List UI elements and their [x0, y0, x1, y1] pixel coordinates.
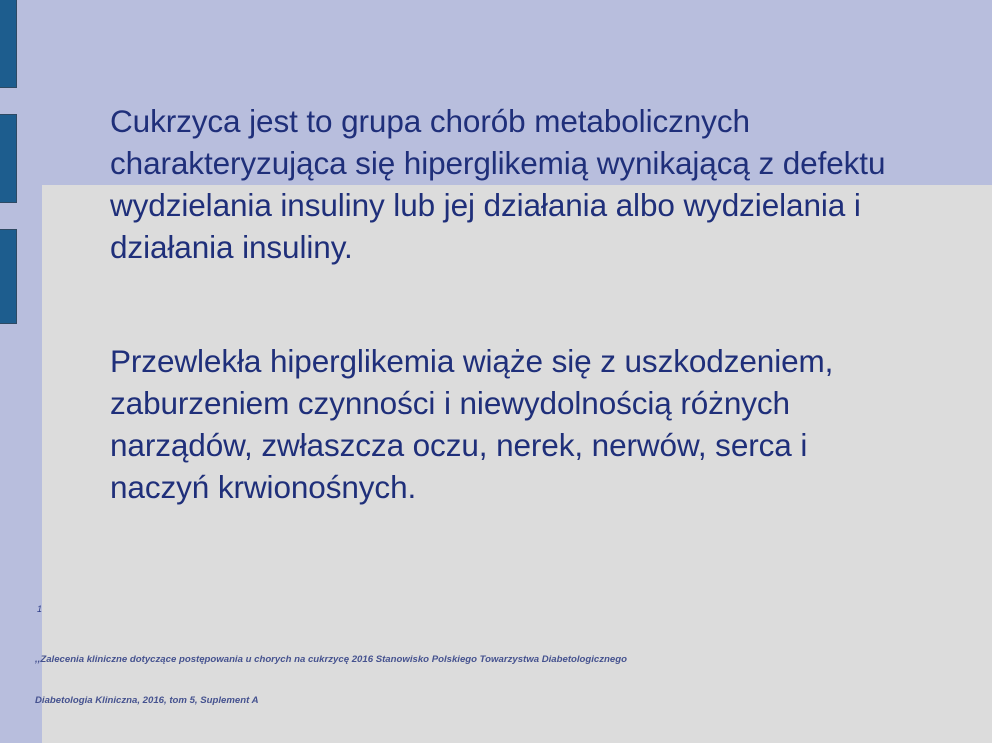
- accent-bar-middle: [0, 114, 17, 203]
- body-paragraph-definition: Cukrzyca jest to grupa chorób metabolicz…: [110, 100, 910, 268]
- slide-body: Cukrzyca jest to grupa chorób metabolicz…: [110, 100, 910, 508]
- footnote-line-citation: Diabetologia Kliniczna, 2016, tom 5, Sup…: [35, 694, 735, 708]
- body-paragraph-complications: Przewlekła hiperglikemia wiąże się z usz…: [110, 340, 910, 508]
- footnote-line-source: ,,Zalecenia kliniczne dotyczące postępow…: [35, 653, 735, 667]
- footnote-index: 1: [37, 604, 42, 614]
- accent-bar-top: [0, 0, 17, 88]
- paragraph-spacer: [110, 268, 910, 340]
- slide-canvas: Cukrzyca jest to grupa chorób metabolicz…: [0, 0, 992, 743]
- accent-bar-bottom: [0, 229, 17, 324]
- footnote-block: ,,Zalecenia kliniczne dotyczące postępow…: [35, 626, 735, 734]
